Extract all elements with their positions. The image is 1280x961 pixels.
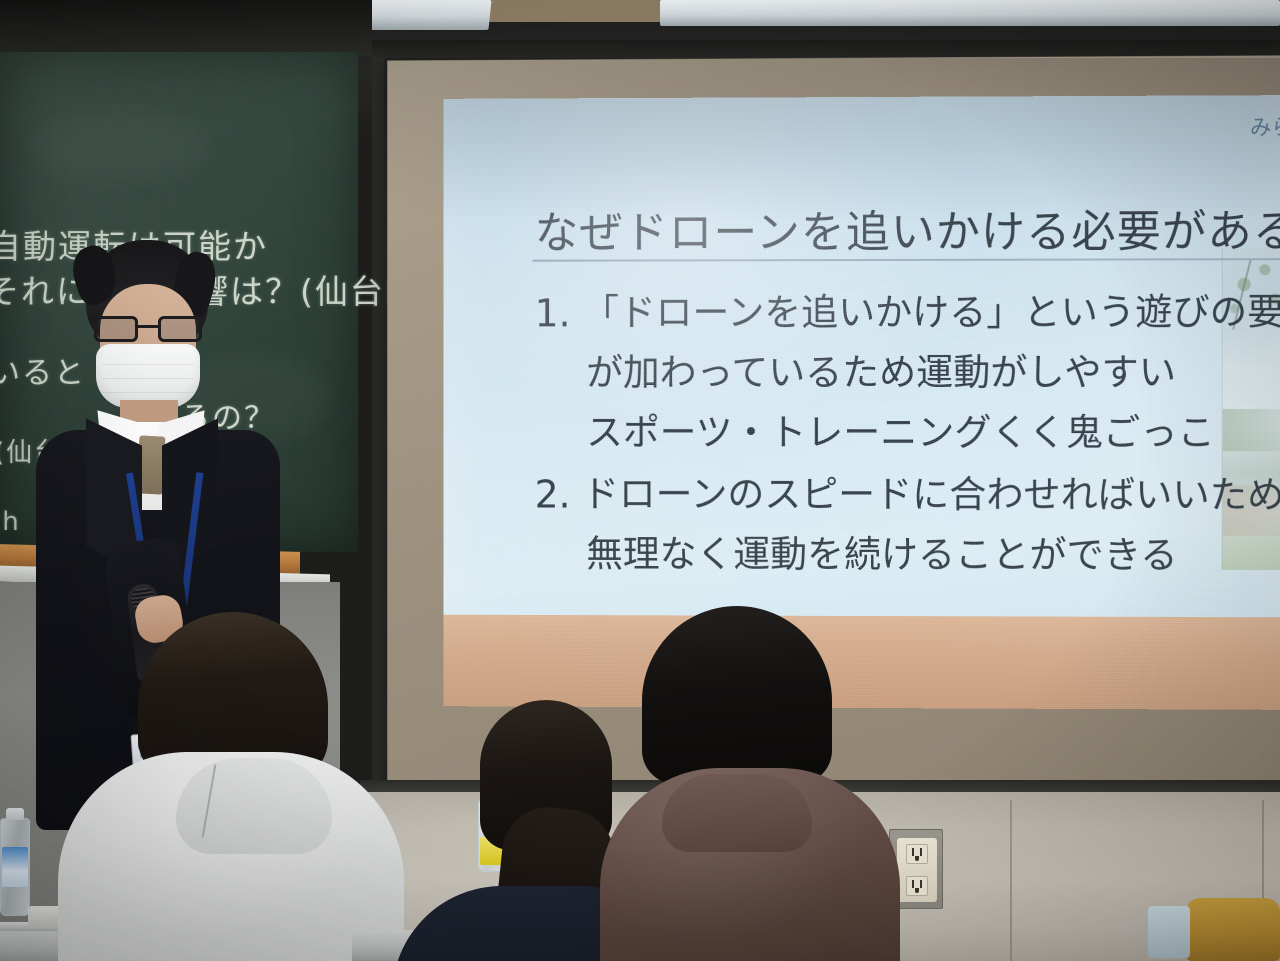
hoodie-hood <box>662 774 812 852</box>
slide-title: なぜドローンを追いかける必要があるのか <box>535 194 1280 260</box>
bullet-line: スポーツ・トレーニングくく鬼ごっこ <box>582 403 1280 463</box>
bullet-number: 2. <box>535 465 583 525</box>
slide-bullet-1: 1. 「ドローンを追いかける」という遊びの要素 が加わっているため運動がしやすい… <box>535 282 1235 463</box>
bullet-line: ドローンのスピードに合わせればいいため <box>582 465 1280 526</box>
slide-body: 1. 「ドローンを追いかける」という遊びの要素 が加わっているため運動がしやすい… <box>535 282 1235 588</box>
bullet-line: が加わっているため運動がしやすい <box>582 343 1280 403</box>
bullet-text-block: ドローンのスピードに合わせればいいため 無理なく運動を続けることができる <box>582 465 1280 586</box>
bottle-label <box>2 847 28 887</box>
bullet-line: 「ドローンを追いかける」という遊びの要素 <box>582 282 1280 343</box>
slide-bullet-2: 2. ドローンのスピードに合わせればいいため 無理なく運動を続けることができる <box>535 465 1235 586</box>
bullet-number: 1. <box>535 283 583 343</box>
bullet-line: 無理なく運動を続けることができる <box>582 525 1280 587</box>
outlet-socket-lower[interactable] <box>906 876 928 896</box>
glasses-icon <box>94 316 202 344</box>
slide-title-rule <box>533 258 1280 262</box>
face-mask <box>96 344 200 408</box>
outlet-socket-upper[interactable] <box>906 844 928 864</box>
ceiling-panel <box>487 0 672 22</box>
audience-student-brown-hoodie <box>600 606 900 961</box>
glasses-bridge <box>138 325 158 328</box>
slide-watermark: みら <box>1250 111 1280 141</box>
bullet-text-block: 「ドローンを追いかける」という遊びの要素 が加わっているため運動がしやすい スポ… <box>582 282 1280 463</box>
glasses-lens-left <box>94 316 138 342</box>
student-hair <box>642 606 832 784</box>
hoodie-hood <box>176 758 332 854</box>
classroom-scene: 自動運転は可能か それによる影響は？(仙台向山) いると なるの？ (仙台東) … <box>0 0 1280 961</box>
glasses-lens-right <box>158 316 202 342</box>
outlet-face <box>897 838 937 902</box>
water-bottle <box>0 818 30 916</box>
chalk-smudge <box>30 112 210 182</box>
classroom-chair[interactable] <box>1186 898 1280 961</box>
audience-student-gray-hoodie <box>58 612 404 961</box>
bottle-cap <box>6 808 24 820</box>
chair-panel <box>1148 906 1190 958</box>
blackboard-text-line-6: th <box>0 507 21 537</box>
wall-seam <box>1010 800 1012 961</box>
blackboard-top-trim <box>0 0 372 56</box>
ceiling-light-fixture <box>660 0 1280 26</box>
